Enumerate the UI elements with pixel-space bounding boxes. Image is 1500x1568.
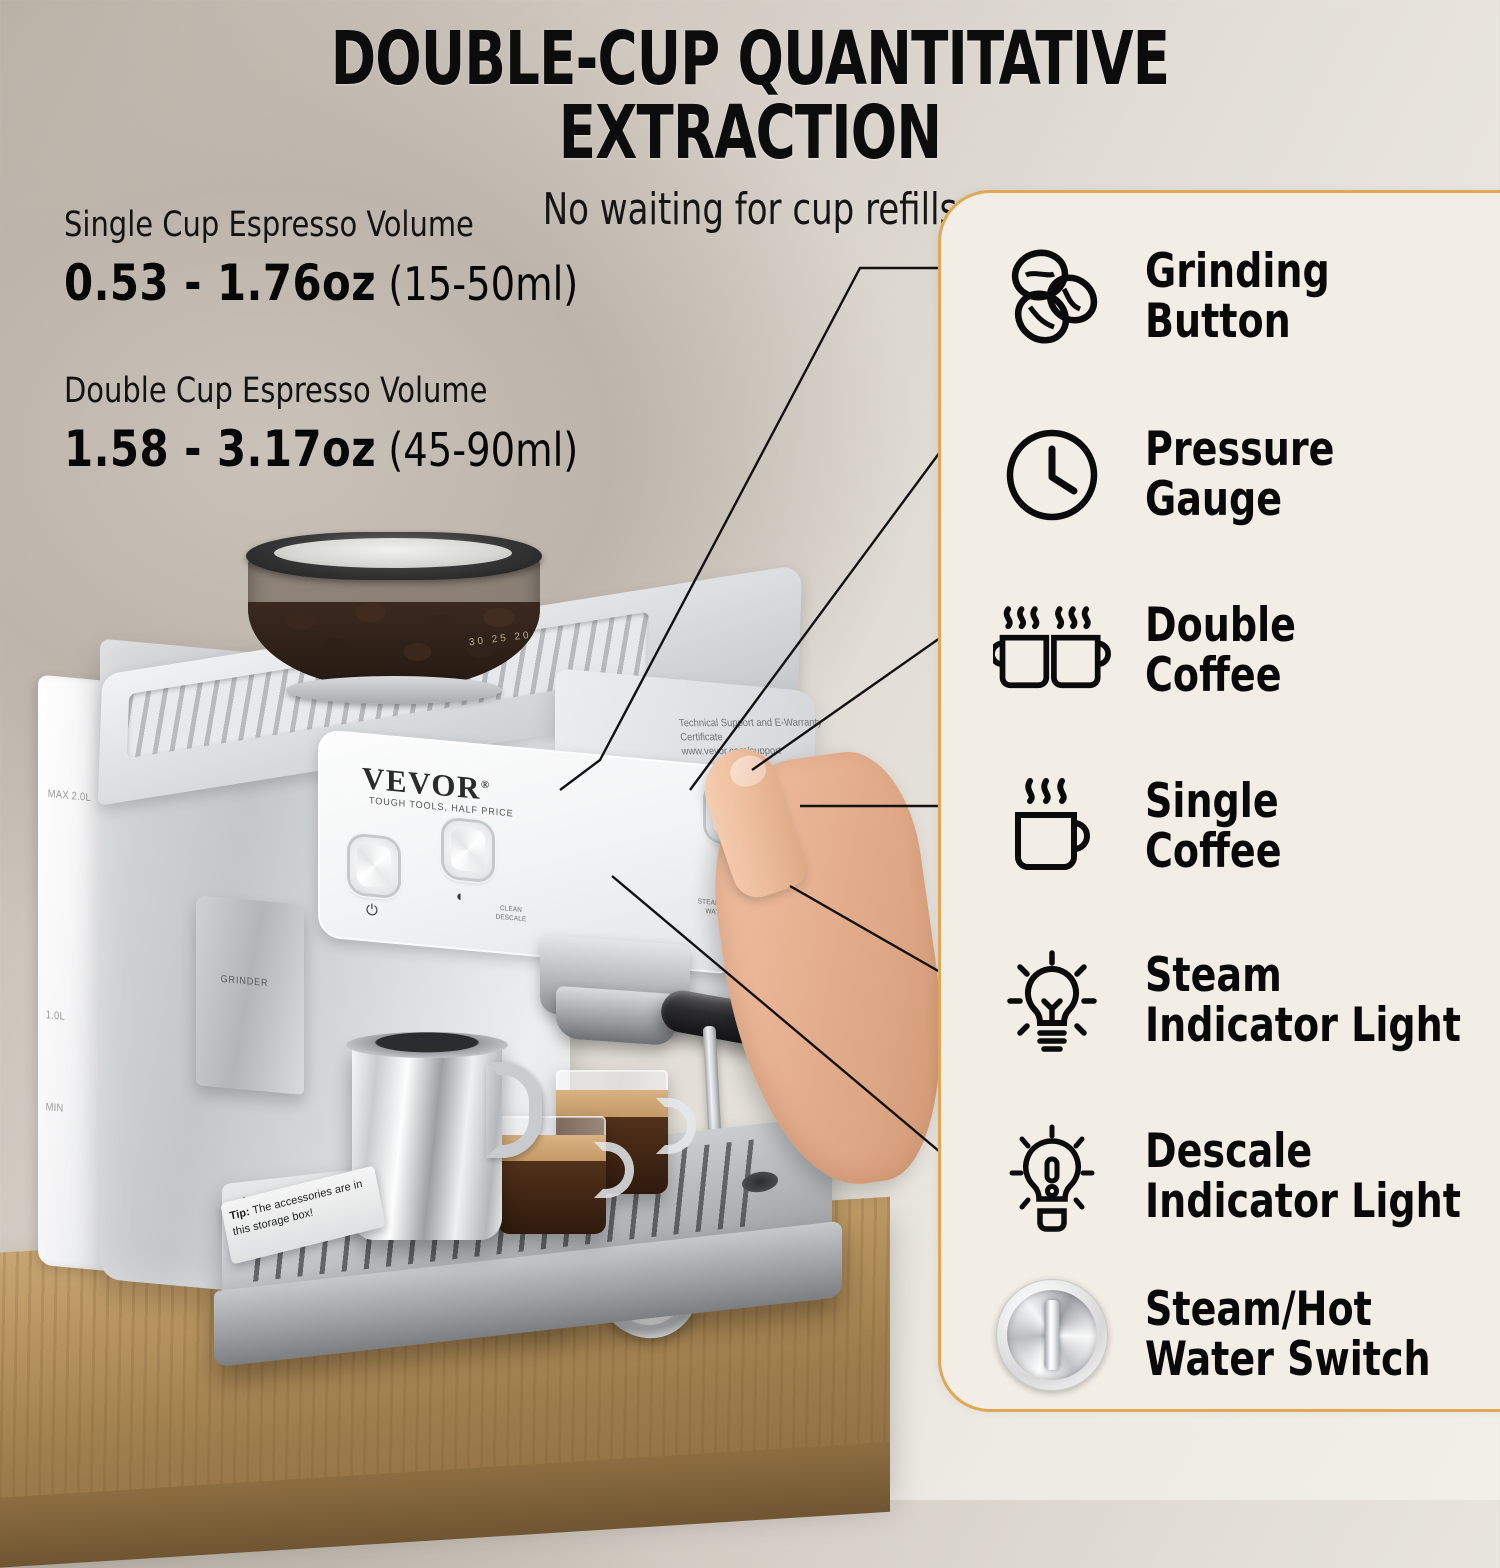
double-coffee-cups-icon (993, 595, 1111, 707)
registered-mark: ® (481, 779, 491, 792)
portafilter-basket (556, 986, 676, 1046)
power-button[interactable] (350, 836, 398, 896)
tank-min-label: MIN (46, 1101, 64, 1115)
tank-mid-label: 1.0L (46, 1009, 65, 1023)
beans-icon: ◐ (456, 888, 465, 906)
spec-single-cup: Single Cup Espresso Volume 0.53 - 1.76oz… (64, 205, 624, 313)
pressure-gauge-clock-icon (993, 419, 1111, 531)
product-photo: MAX 2.0L 1.0L MIN Technical Support and … (0, 470, 960, 1500)
chrome-knob-icon (993, 1279, 1111, 1391)
spec-value: 0.53 - 1.76oz (15-50ml) (64, 255, 585, 313)
single-coffee-cup-icon (993, 771, 1111, 883)
spec-metric: (45-90ml) (388, 423, 578, 477)
power-icon: ⏻ (366, 901, 378, 919)
grinding-button[interactable] (444, 820, 492, 880)
crema-layer (556, 1090, 668, 1117)
feature-grinding-button[interactable]: Grinding Button (993, 241, 1500, 353)
knob-graphic (996, 1279, 1108, 1391)
spec-range: 0.53 - 1.76oz (64, 254, 376, 312)
hopper-base (286, 676, 502, 704)
feature-label: Descale Indicator Light (1145, 1127, 1461, 1227)
spec-metric: (15-50ml) (388, 257, 578, 311)
grinder-column (196, 895, 304, 1095)
spec-label: Double Cup Espresso Volume (64, 371, 579, 411)
feature-label: Steam Indicator Light (1145, 951, 1461, 1051)
feature-double-coffee[interactable]: Double Coffee (993, 595, 1500, 707)
feature-label: Double Coffee (1145, 601, 1296, 701)
lightbulb-alert-icon (993, 1121, 1111, 1233)
feature-label: Grinding Button (1145, 247, 1330, 347)
coffee-beans-icon (993, 241, 1111, 353)
feature-label: Single Coffee (1145, 777, 1282, 877)
espresso-liquid (498, 1161, 606, 1234)
lightbulb-icon (993, 945, 1111, 1057)
feature-label: Steam/Hot Water Switch (1145, 1285, 1431, 1385)
spec-double-cup: Double Cup Espresso Volume 1.58 - 3.17oz… (64, 371, 624, 479)
feature-descale-indicator-light[interactable]: Descale Indicator Light (993, 1121, 1500, 1233)
feature-label: Pressure Gauge (1145, 425, 1334, 525)
feature-single-coffee[interactable]: Single Coffee (993, 771, 1500, 883)
feature-pressure-gauge[interactable]: Pressure Gauge (993, 419, 1500, 531)
feature-panel: Grinding Button Pressure Gauge Doubl (938, 190, 1500, 1412)
hopper-lid-inner (274, 538, 512, 568)
spec-label: Single Cup Espresso Volume (64, 205, 579, 245)
page-title: DOUBLE-CUP QUANTITATIVE EXTRACTION (135, 22, 1365, 170)
tip-prefix: Tip: (229, 1206, 251, 1223)
feature-steam-hot-water-switch[interactable]: Steam/Hot Water Switch (993, 1279, 1500, 1391)
milk-pitcher-rim (346, 1032, 508, 1058)
feature-steam-indicator-light[interactable]: Steam Indicator Light (993, 945, 1500, 1057)
